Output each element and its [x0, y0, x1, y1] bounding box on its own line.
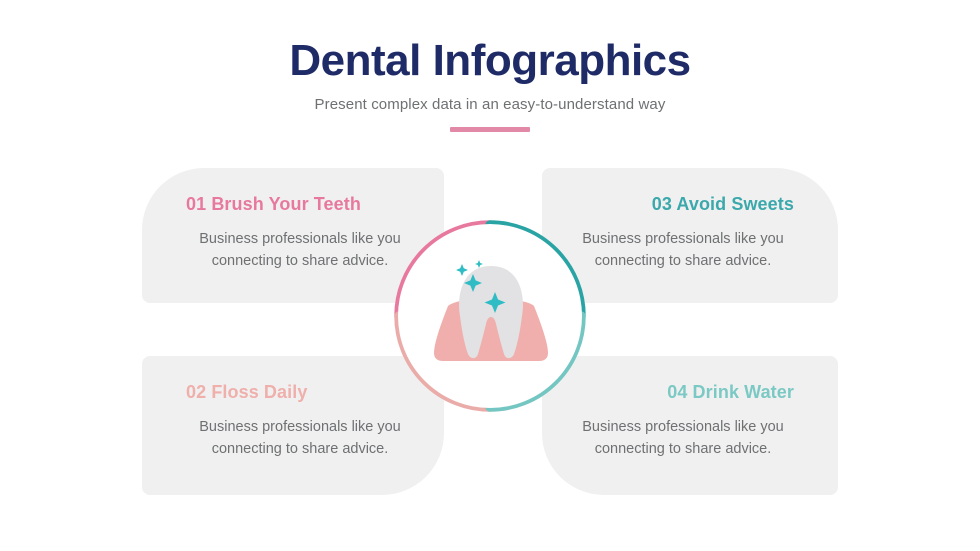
card-heading-02: 02 Floss Daily [186, 382, 414, 404]
tooth-icon [428, 252, 554, 372]
page-subtitle: Present complex data in an easy-to-under… [0, 96, 980, 113]
title-accent-bar [450, 127, 530, 132]
page-title: Dental Infographics [0, 38, 980, 84]
card-heading-03: 03 Avoid Sweets [572, 194, 794, 216]
slide-canvas: Dental Infographics Present complex data… [0, 0, 980, 551]
card-body-03: Business professionals like you connecti… [572, 228, 794, 272]
card-heading-04: 04 Drink Water [572, 382, 794, 404]
center-graphic [388, 214, 592, 418]
header: Dental Infographics Present complex data… [0, 38, 980, 132]
card-body-02: Business professionals like you connecti… [186, 416, 414, 460]
sparkle-icon-medium [456, 264, 468, 276]
sparkle-icon-small [475, 260, 483, 268]
card-body-01: Business professionals like you connecti… [186, 228, 414, 272]
card-heading-01: 01 Brush Your Teeth [186, 194, 414, 216]
card-body-04: Business professionals like you connecti… [572, 416, 794, 460]
